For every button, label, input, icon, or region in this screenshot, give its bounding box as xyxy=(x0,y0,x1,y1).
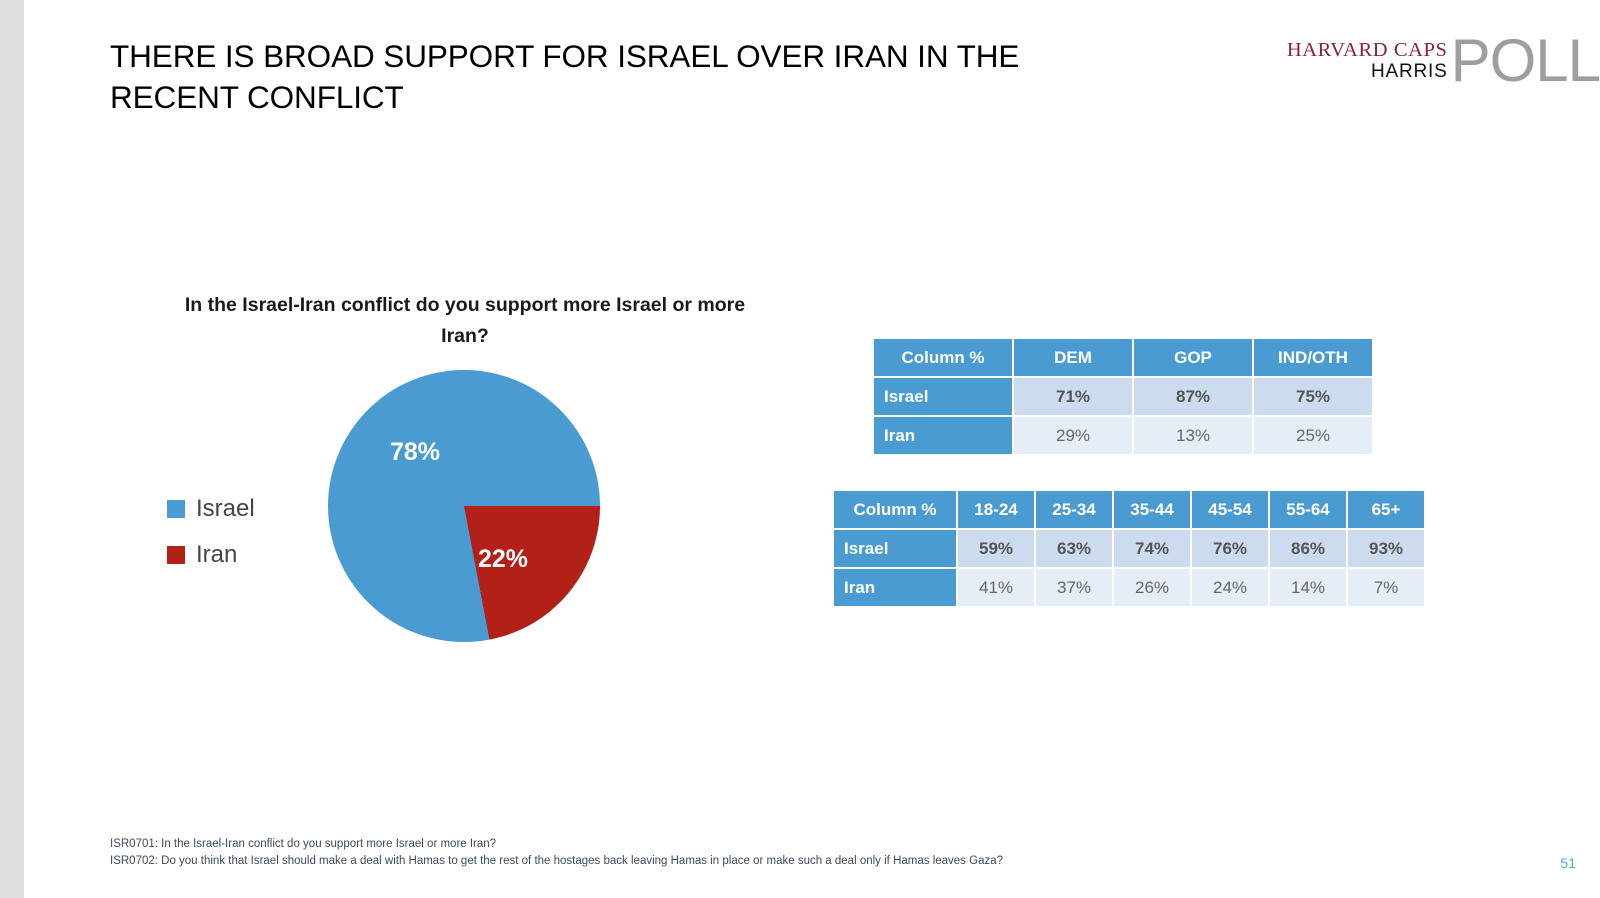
legend-label-israel: Israel xyxy=(196,495,255,523)
chart-title: In the Israel-Iran conflict do you suppo… xyxy=(160,290,770,352)
table-row: Iran 41% 37% 26% 24% 14% 7% xyxy=(834,569,1424,606)
legend-swatch-iran xyxy=(167,546,185,564)
table-header-cell: 25-34 xyxy=(1036,491,1112,528)
table-cell: 71% xyxy=(1014,378,1132,415)
table-cell: 74% xyxy=(1114,530,1190,567)
table-cell: 41% xyxy=(958,569,1034,606)
legend-item-israel: Israel xyxy=(167,486,255,532)
table-header-cell: 55-64 xyxy=(1270,491,1346,528)
crosstab-table-age: Column % 18-24 25-34 35-44 45-54 55-64 6… xyxy=(832,489,1426,608)
table-header-cell: Column % xyxy=(874,339,1012,376)
legend-item-iran: Iran xyxy=(167,532,255,578)
table-row-label: Iran xyxy=(834,569,956,606)
table-header-cell: 45-54 xyxy=(1192,491,1268,528)
table-row: Israel 59% 63% 74% 76% 86% 93% xyxy=(834,530,1424,567)
page-title: THERE IS BROAD SUPPORT FOR ISRAEL OVER I… xyxy=(110,36,1070,118)
table-header-cell: IND/OTH xyxy=(1254,339,1372,376)
harvard-caps-harris-poll-logo: HARVARD CAPS HARRIS POLL xyxy=(1287,33,1600,91)
table-cell: 86% xyxy=(1270,530,1346,567)
pie-slice-label-iran: 22% xyxy=(478,545,528,574)
logo-harvard-caps-text: HARVARD CAPS xyxy=(1287,40,1448,61)
pie-chart-graphic xyxy=(328,370,600,642)
crosstab-table-party: Column % DEM GOP IND/OTH Israel 71% 87% … xyxy=(872,337,1374,456)
table-header-cell: 18-24 xyxy=(958,491,1034,528)
table-cell: 24% xyxy=(1192,569,1268,606)
table-cell: 76% xyxy=(1192,530,1268,567)
left-edge-bar xyxy=(0,0,24,898)
table-cell: 7% xyxy=(1348,569,1424,606)
table-cell: 14% xyxy=(1270,569,1346,606)
table-header-cell: 35-44 xyxy=(1114,491,1190,528)
table-cell: 75% xyxy=(1254,378,1372,415)
table-row-label: Israel xyxy=(834,530,956,567)
legend-label-iran: Iran xyxy=(196,541,237,569)
logo-harris-text: HARRIS xyxy=(1371,61,1448,82)
table-cell: 13% xyxy=(1134,417,1252,454)
table-cell: 59% xyxy=(958,530,1034,567)
table-cell: 26% xyxy=(1114,569,1190,606)
footnote-line-1: ISR0701: In the Israel-Iran conflict do … xyxy=(110,836,1003,853)
table-row: Iran 29% 13% 25% xyxy=(874,417,1372,454)
table-header-cell: DEM xyxy=(1014,339,1132,376)
table-header-cell: GOP xyxy=(1134,339,1252,376)
table-cell: 63% xyxy=(1036,530,1112,567)
table-header-cell: 65+ xyxy=(1348,491,1424,528)
page-number: 51 xyxy=(1560,855,1576,871)
table-cell: 93% xyxy=(1348,530,1424,567)
table-cell: 37% xyxy=(1036,569,1112,606)
table-row-label: Israel xyxy=(874,378,1012,415)
table-cell: 29% xyxy=(1014,417,1132,454)
table-row: Israel 71% 87% 75% xyxy=(874,378,1372,415)
table-cell: 25% xyxy=(1254,417,1372,454)
chart-legend: Israel Iran xyxy=(167,486,255,578)
logo-poll-text: POLL xyxy=(1451,33,1600,89)
table-cell: 87% xyxy=(1134,378,1252,415)
table-header-row: Column % DEM GOP IND/OTH xyxy=(874,339,1372,376)
footnote-line-2: ISR0702: Do you think that Israel should… xyxy=(110,853,1003,870)
table-header-row: Column % 18-24 25-34 35-44 45-54 55-64 6… xyxy=(834,491,1424,528)
footnotes: ISR0701: In the Israel-Iran conflict do … xyxy=(110,836,1003,870)
logo-wordmark: HARVARD CAPS HARRIS xyxy=(1287,33,1450,82)
pie-chart: 78% 22% xyxy=(328,370,600,642)
legend-swatch-israel xyxy=(167,500,185,518)
table-row-label: Iran xyxy=(874,417,1012,454)
pie-slice-label-israel: 78% xyxy=(390,438,440,467)
table-header-cell: Column % xyxy=(834,491,956,528)
